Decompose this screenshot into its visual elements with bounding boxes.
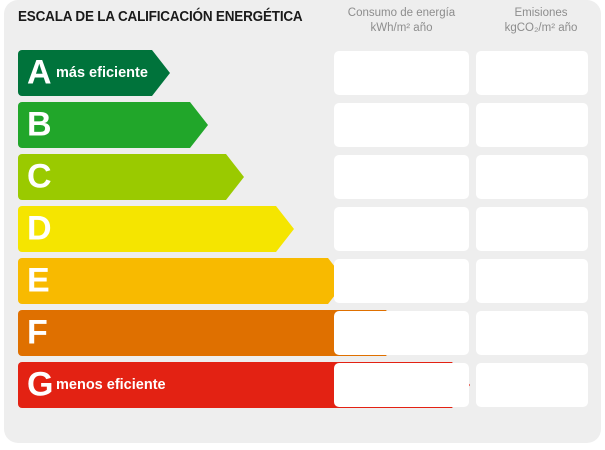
column-header-emisiones-line1: Emisiones [514, 7, 567, 19]
emisiones-value-d[interactable] [476, 207, 588, 251]
rating-row-c: C [4, 154, 601, 200]
page-title: ESCALA DE LA CALIFICACIÓN ENERGÉTICA [18, 9, 306, 25]
column-header-emisiones-line2: kgCO₂/m² año [481, 21, 601, 36]
rating-row-d: D [4, 206, 601, 252]
energy-rating-card: ESCALA DE LA CALIFICACIÓN ENERGÉTICA Con… [4, 0, 601, 443]
consumo-value-g[interactable] [334, 363, 469, 407]
rating-letter-f: F [27, 315, 47, 349]
rating-row-e: E [4, 258, 601, 304]
consumo-value-b[interactable] [334, 103, 469, 147]
emisiones-value-f[interactable] [476, 311, 588, 355]
rating-note-a: más eficiente [56, 65, 148, 81]
rating-band-c: C [18, 154, 226, 200]
column-header-consumo: Consumo de energía kWh/m² año [324, 6, 479, 36]
consumo-value-c[interactable] [334, 155, 469, 199]
rating-row-a: Amás eficiente [4, 50, 601, 96]
consumo-value-a[interactable] [334, 51, 469, 95]
rating-arrow-tip-c [226, 154, 244, 200]
rating-band-b: B [18, 102, 190, 148]
rating-band-d: D [18, 206, 276, 252]
rating-note-g: menos eficiente [56, 377, 166, 393]
column-header-emisiones: Emisiones kgCO₂/m² año [481, 6, 601, 36]
emisiones-value-c[interactable] [476, 155, 588, 199]
rating-letter-a: A [27, 55, 51, 89]
emisiones-value-e[interactable] [476, 259, 588, 303]
rating-row-f: F [4, 310, 601, 356]
rating-letter-b: B [27, 107, 51, 141]
rating-row-b: B [4, 102, 601, 148]
rating-letter-g: G [27, 367, 53, 401]
rating-arrow-tip-b [190, 102, 208, 148]
rating-letter-c: C [27, 159, 51, 193]
consumo-value-e[interactable] [334, 259, 469, 303]
emisiones-value-a[interactable] [476, 51, 588, 95]
emisiones-value-g[interactable] [476, 363, 588, 407]
rating-arrow-tip-d [276, 206, 294, 252]
rating-arrow-tip-a [152, 50, 170, 96]
rating-letter-e: E [27, 263, 49, 297]
column-header-consumo-line1: Consumo de energía [348, 7, 455, 19]
rating-band-a: Amás eficiente [18, 50, 152, 96]
card-header: ESCALA DE LA CALIFICACIÓN ENERGÉTICA Con… [4, 0, 601, 46]
consumo-value-d[interactable] [334, 207, 469, 251]
emisiones-value-b[interactable] [476, 103, 588, 147]
rating-band-e: E [18, 258, 328, 304]
rating-letter-d: D [27, 211, 51, 245]
consumo-value-f[interactable] [334, 311, 469, 355]
column-header-consumo-line2: kWh/m² año [324, 21, 479, 36]
rating-row-g: Gmenos eficiente [4, 362, 601, 408]
rating-band-f: F [18, 310, 386, 356]
